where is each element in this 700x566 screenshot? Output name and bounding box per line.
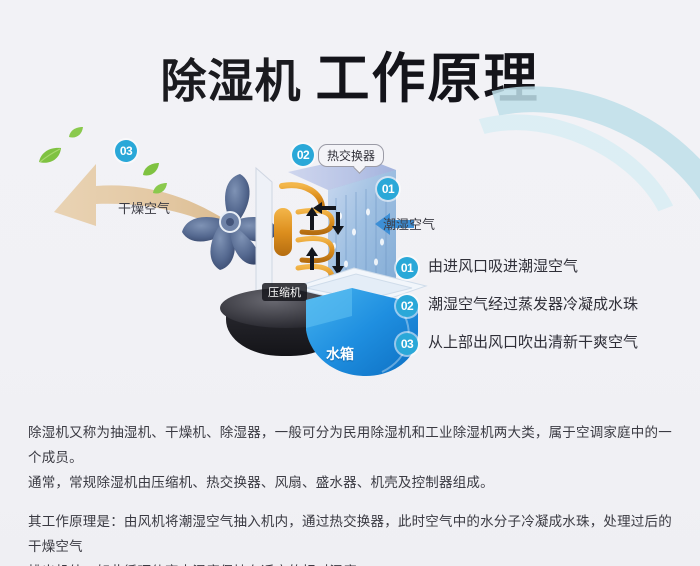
paragraph-gap [28, 495, 676, 509]
legend-badge-03: 03 [396, 333, 418, 355]
page-title-part1: 除湿机 [161, 55, 302, 107]
body-copy: 除湿机又称为抽湿机、干燥机、除湿器，一般可分为民用除湿机和工业除湿机两大类，属于… [28, 420, 676, 566]
legend-item: 03 从上部出风口吹出清新干爽空气 [396, 331, 686, 369]
paragraph-2-line-2: 排出机外，如此循环使室内湿度保持在适宜的相对湿度。 [28, 559, 676, 566]
label-water-tank: 水箱 [326, 344, 354, 364]
infographic-page: 除湿机工作原理 [0, 0, 700, 566]
label-compressor: 压缩机 [262, 283, 307, 301]
badge-03-diagram: 03 [115, 140, 137, 162]
paragraph-1-line-2: 通常，常规除湿机由压缩机、热交换器、风扇、盛水器、机壳及控制器组成。 [28, 470, 676, 495]
label-dry-air: 干燥空气 [118, 198, 170, 217]
badge-01-diagram: 01 [377, 178, 399, 200]
legend-item: 01 由进风口吸进潮湿空气 [396, 255, 686, 293]
label-heat-exchanger: 热交换器 [318, 144, 384, 167]
badge-02-diagram: 02 [292, 144, 314, 166]
legend-badge-01: 01 [396, 257, 418, 279]
leaf-icon [152, 182, 168, 196]
legend-badge-02: 02 [396, 295, 418, 317]
legend-text-03: 从上部出风口吹出清新干爽空气 [428, 332, 638, 354]
legend-text-02: 潮湿空气经过蒸发器冷凝成水珠 [428, 294, 638, 316]
legend-item: 02 潮湿空气经过蒸发器冷凝成水珠 [396, 293, 686, 331]
legend-list: 01 由进风口吸进潮湿空气 02 潮湿空气经过蒸发器冷凝成水珠 03 从上部出风… [396, 255, 686, 369]
paragraph-2-line-1: 其工作原理是：由风机将潮湿空气抽入机内，通过热交换器，此时空气中的水分子冷凝成水… [28, 509, 676, 559]
label-humid-air: 潮湿空气 [383, 214, 435, 233]
legend-text-01: 由进风口吸进潮湿空气 [428, 256, 578, 278]
paragraph-1-line-1: 除湿机又称为抽湿机、干燥机、除湿器，一般可分为民用除湿机和工业除湿机两大类，属于… [28, 420, 676, 470]
leaf-icon [68, 126, 84, 140]
leaf-icon [38, 146, 62, 166]
leaf-icon [142, 162, 160, 178]
